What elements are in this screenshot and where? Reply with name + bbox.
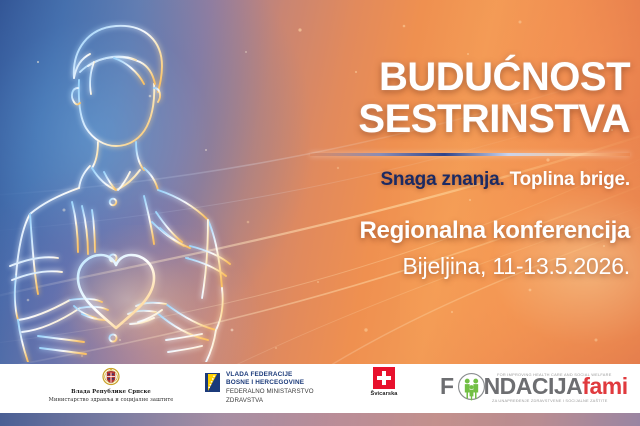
bih-logo-line3: FEDERALNO MINISTARSTVO: [226, 388, 314, 396]
fami-tagline-bottom: ZA UNAPREĐENJE ZDRAVSTVENE I SOCIJALNE Z…: [492, 398, 608, 403]
rs-coat-of-arms-icon: [100, 366, 122, 388]
rs-logo-line1: Влада Републике Српске: [26, 389, 196, 395]
poster-title-line2: SESTRINSTVA: [310, 98, 630, 140]
bottom-gradient-strip: [0, 413, 640, 426]
bih-logo-line2: BOSNE I HERCEGOVINE: [226, 379, 314, 387]
poster-title-line1: BUDUĆNOST: [310, 56, 630, 98]
fami-word-fami: fami: [582, 373, 627, 399]
footer-logo-bar: Влада Републике Српске Министарство здра…: [0, 364, 640, 413]
fami-word-ndacija: NDACIJA: [484, 373, 583, 399]
rs-logo-line2: Министарство здравља и социјалне заштите: [26, 397, 196, 403]
bottom-strip-sweep: [0, 413, 640, 426]
title-divider-line: [310, 153, 630, 156]
logo-republika-srpska: Влада Републике Српске Министарство здра…: [26, 366, 196, 403]
nurse-illustration: [0, 6, 256, 362]
conference-label: Regionalna konferencija: [310, 217, 630, 245]
bih-logo-line1: VLADA FEDERACIJE: [226, 371, 314, 379]
tagline-part-care: Toplina brige.: [510, 169, 630, 190]
conference-poster: BUDUĆNOST SESTRINSTVA Snaga znanja. Topl…: [0, 0, 640, 426]
poster-text-block: BUDUĆNOST SESTRINSTVA Snaga znanja. Topl…: [310, 56, 630, 280]
fami-letter-f: F: [440, 373, 454, 399]
poster-tagline: Snaga znanja. Toplina brige.: [310, 169, 630, 191]
bih-flag-icon: [205, 373, 220, 392]
logo-fondacija-fami: FOR IMPROVING HEALTH CARE AND SOCIAL WEL…: [440, 370, 630, 404]
bih-logo-line4: ZDRAVSTVA: [226, 397, 314, 405]
logo-switzerland: Švicarska: [362, 367, 406, 397]
fami-people-circle-icon: [457, 372, 486, 401]
swiss-flag-icon: [373, 367, 395, 389]
tagline-part-knowledge: Snaga znanja.: [380, 169, 504, 190]
conference-date-location: Bijeljina, 11-13.5.2026.: [310, 253, 630, 280]
swiss-caption: Švicarska: [362, 391, 406, 397]
